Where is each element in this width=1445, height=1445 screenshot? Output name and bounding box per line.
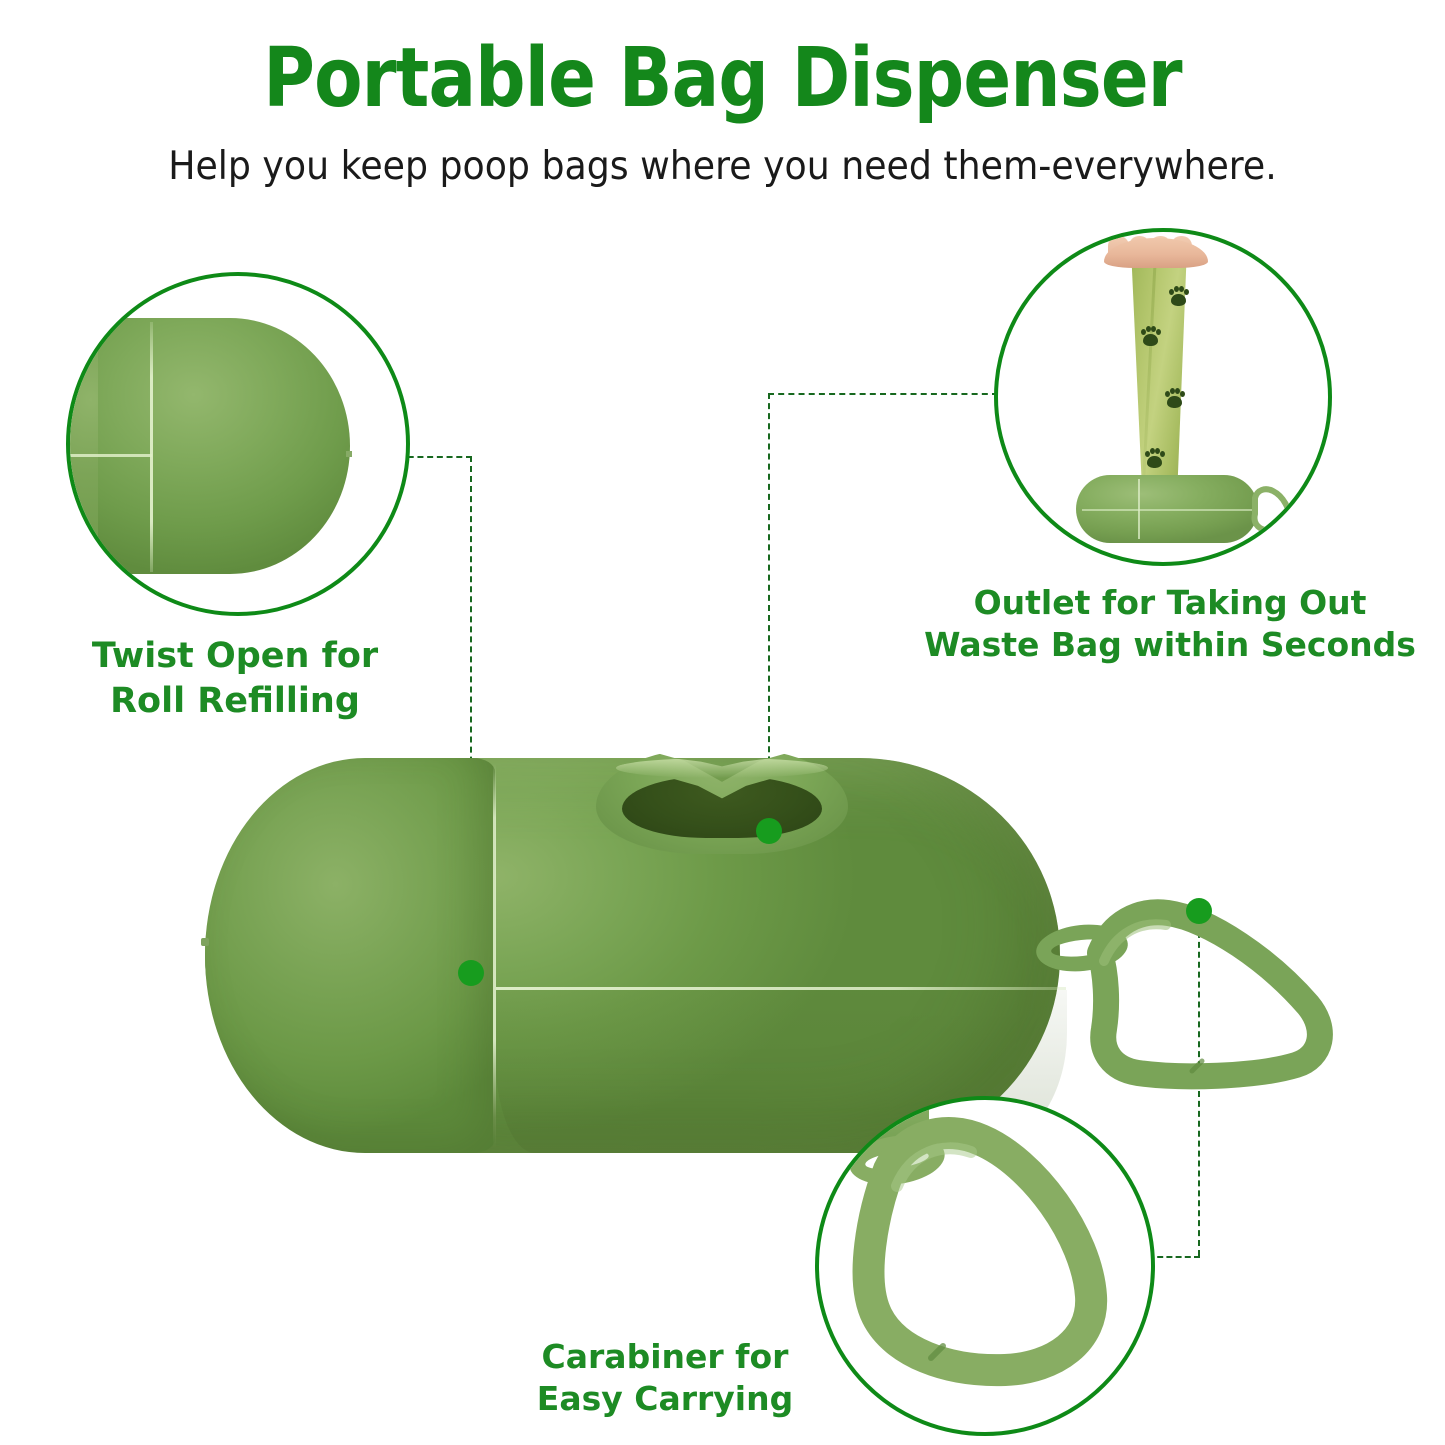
page-title: Portable Bag Dispenser [101,34,1344,124]
dispenser-cap-seam [493,764,496,1148]
callout-label-twist-open: Twist Open for Roll Refilling [40,634,430,724]
dispenser-barrel-seam [496,987,1066,990]
mini-dispenser-barrel-seam [1082,509,1252,511]
callout-circle-outlet [994,228,1332,566]
paw-print-icon [1168,286,1190,306]
callout-circle-twist-open [66,272,410,616]
marker-dot-carabiner [1186,898,1212,924]
cap-vertical-seam [150,322,153,572]
paw-print-icon [1140,326,1162,346]
callout-circle-carabiner [815,1096,1155,1436]
connector-carabiner-horizontal [1148,1256,1200,1258]
dispenser-left-nub [201,938,209,946]
mini-carabiner-clip [1245,482,1297,538]
carabiner-shape-icon [1245,482,1297,538]
infographic-canvas: Portable Bag Dispenser Help you keep poo… [0,0,1445,1445]
paw-print-icon [1164,388,1186,408]
carabiner-closeup-icon [819,1100,1155,1436]
bag-outlet-opening [596,748,848,854]
marker-dot-cap-seam [458,960,484,986]
cap-horizontal-seam [66,454,152,457]
outlet-highlight [616,758,828,778]
connector-outlet-horizontal [768,393,998,395]
paw-print-icon [1144,448,1166,468]
callout-label-carabiner: Carabiner for Easy Carrying [470,1336,860,1420]
cap-edge-nub [346,451,352,457]
cap-right-half [98,318,350,574]
dispenser-twist-cap [205,758,495,1153]
main-product-image [0,690,1445,1250]
callout-label-outlet: Outlet for Taking Out Waste Bag within S… [920,582,1420,666]
marker-dot-outlet [756,818,782,844]
page-subtitle: Help you keep poop bags where you need t… [51,142,1395,192]
